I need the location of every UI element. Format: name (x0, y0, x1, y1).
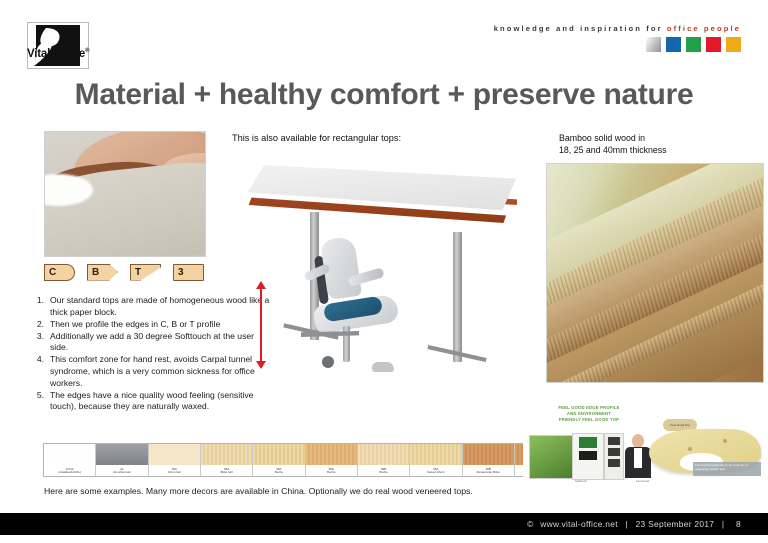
decor-label: ALAlu silbermatt (96, 468, 147, 475)
decor-swatch: 18BDonauzeder Birke (463, 444, 515, 476)
logo-wordmark-text: Vital-Office (27, 48, 85, 60)
list-item: 5. The edges have a nice quality wood fe… (25, 390, 273, 413)
decor-chip (410, 444, 461, 465)
decor-label: 58ABirke hell (201, 468, 252, 475)
edge-profile-b-icon: B (87, 264, 118, 281)
brand-swatch-blue (666, 37, 681, 52)
fsc-logo-icon (579, 437, 597, 448)
list-item-number: 2. (25, 319, 50, 331)
promo-eco-card (572, 433, 604, 480)
bamboo-caption-line1: Bamboo solid wood in (559, 132, 759, 144)
promo-grommet-1 (688, 447, 692, 451)
header-tagline: knowledge and inspiration for office peo… (494, 24, 741, 33)
person-head (632, 434, 644, 448)
decor-name: Kanad. Ahorn (410, 471, 461, 475)
footer-separator-1: | (625, 519, 627, 529)
decor-label: 56ABuche (253, 468, 304, 475)
bamboo-caption-line2: 18, 25 and 40mm thickness (559, 144, 759, 156)
decor-name: Donauzeder Birke (463, 471, 514, 475)
decor-swatch: 56AKanad. Ahorn (410, 444, 462, 476)
promo-headline: FEEL GOOD EDGE PROFILE AND ENVIRONMENT F… (529, 405, 649, 423)
decor-label: 58NBuche (306, 468, 357, 475)
decor-chip (306, 444, 357, 465)
decor-chip (149, 444, 200, 465)
list-item: 1. Our standard tops are made of homogen… (25, 295, 273, 318)
rectangular-tops-caption: This is also available for rectangular t… (232, 133, 532, 143)
decor-name: kristallweiß (RAL) (44, 471, 95, 475)
brand-swatch-yellow (726, 37, 741, 52)
decor-name: Buche (358, 471, 409, 475)
decor-chip (463, 444, 514, 465)
decor-label: 18BDonauzeder Birke (463, 468, 514, 475)
brand-swatch-silver (646, 37, 661, 52)
promo-caption-right: Feel Good (636, 479, 649, 483)
list-item-number: 4. (25, 354, 50, 389)
list-item: 2. Then we profile the edges in C, B or … (25, 319, 273, 331)
office-chair (286, 238, 406, 378)
list-item-number: 5. (25, 390, 50, 413)
promo-icon-strip (604, 433, 624, 480)
footer-copyright: © (527, 519, 533, 529)
brand-swatch-red (706, 37, 721, 52)
footer-date: 23 September 2017 (636, 519, 715, 529)
list-item-number: 3. (25, 331, 50, 354)
decor-name: Alu silbermatt (96, 471, 147, 475)
vital-office-logo-icon (28, 23, 88, 68)
promo-bamboo-thumbnail (529, 435, 573, 479)
promo-banner: FEEL GOOD EDGE PROFILE AND ENVIRONMENT F… (523, 401, 763, 485)
decor-name: Birke hell (201, 471, 252, 475)
brand-color-swatches (646, 37, 741, 52)
profile-3-label: 3 (178, 265, 184, 280)
brand-swatch-green (686, 37, 701, 52)
list-item: 4. This comfort zone for hand rest, avoi… (25, 354, 273, 389)
profile-c-label: C (49, 265, 56, 280)
decor-swatch: 59BBuche (358, 444, 410, 476)
decor-chip (201, 444, 252, 465)
edge-profile-c-icon: C (44, 264, 75, 281)
footer-meta: © www.vital-office.net | 23 September 20… (527, 513, 741, 535)
list-item: 3. Additionally we add a 30 degree Softt… (25, 331, 273, 354)
decor-label: 39AAhorn hell (149, 468, 200, 475)
decor-label: 56AKanad. Ahorn (410, 468, 461, 475)
decor-swatch: 56ABuche (253, 444, 305, 476)
decor-swatch: ALAlu silbermatt (96, 444, 148, 476)
logo-registered-mark: ® (85, 48, 89, 54)
tagline-plain: knowledge and inspiration for (494, 24, 667, 33)
profile-t-label: T (135, 265, 141, 280)
promo-icon-1 (608, 437, 620, 445)
promo-grommet-2 (723, 439, 727, 443)
edge-profile-t-icon: T (130, 264, 161, 281)
footer-separator-2: | (722, 519, 724, 529)
bamboo-photo (546, 163, 764, 383)
decor-examples-caption: Here are some examples. Many more decors… (44, 486, 473, 496)
desk-leg-right (453, 232, 462, 362)
eco-label-icon (579, 451, 597, 460)
decor-label: ACOAkristallweiß (RAL) (44, 468, 95, 475)
slide-root: Vital-Office® knowledge and inspiration … (0, 0, 768, 543)
list-item-number: 1. (25, 295, 50, 318)
decor-chip (358, 444, 409, 465)
chair-castor (322, 356, 334, 368)
promo-caption-left: Softtouch (575, 479, 587, 483)
promo-note: The environmental wax for the desk top, … (693, 462, 761, 476)
tagline-highlight: office people (667, 24, 741, 33)
decor-chip (253, 444, 304, 465)
profile-b-label: B (92, 265, 99, 280)
promo-icon-2 (608, 448, 620, 456)
page-title: Material + healthy comfort + preserve na… (0, 78, 768, 112)
decor-chip (44, 444, 95, 465)
logo-wordmark: Vital-Office® (27, 48, 89, 60)
softtouch-edge-photo (44, 131, 206, 257)
edge-profile-icons: C B T 3 (44, 261, 204, 283)
footer-page-number: 8 (736, 519, 741, 529)
decor-name: Buche (306, 471, 357, 475)
footer-site[interactable]: www.vital-office.net (540, 519, 618, 529)
promo-person-photo (625, 434, 651, 478)
height-adjust-arrow-icon (260, 288, 262, 362)
logo-box (27, 22, 89, 69)
decor-swatch: 58ABirke hell (201, 444, 253, 476)
decor-label: 59BBuche (358, 468, 409, 475)
slide-footer: © www.vital-office.net | 23 September 20… (0, 513, 768, 535)
decor-swatch: 58NBuche (306, 444, 358, 476)
desk-illustration (238, 160, 528, 390)
person-shirt (634, 448, 642, 468)
promo-headline-line3: FRIENDLY FEEL GOOD TOP (529, 417, 649, 423)
feature-list: 1. Our standard tops are made of homogen… (25, 295, 273, 413)
chair-castor-secondary (372, 362, 394, 372)
decor-swatch: 39AAhorn hell (149, 444, 201, 476)
promo-icon-3 (608, 459, 620, 467)
decor-name: Ahorn hell (149, 471, 200, 475)
list-item-text: The edges have a nice quality wood feeli… (50, 390, 273, 413)
decor-name: Buche (253, 471, 304, 475)
decor-chip (96, 444, 147, 465)
decor-swatch: ACOAkristallweiß (RAL) (44, 444, 96, 476)
edge-profile-30deg-icon: 3 (173, 264, 204, 281)
bamboo-caption: Bamboo solid wood in 18, 25 and 40mm thi… (559, 132, 759, 156)
